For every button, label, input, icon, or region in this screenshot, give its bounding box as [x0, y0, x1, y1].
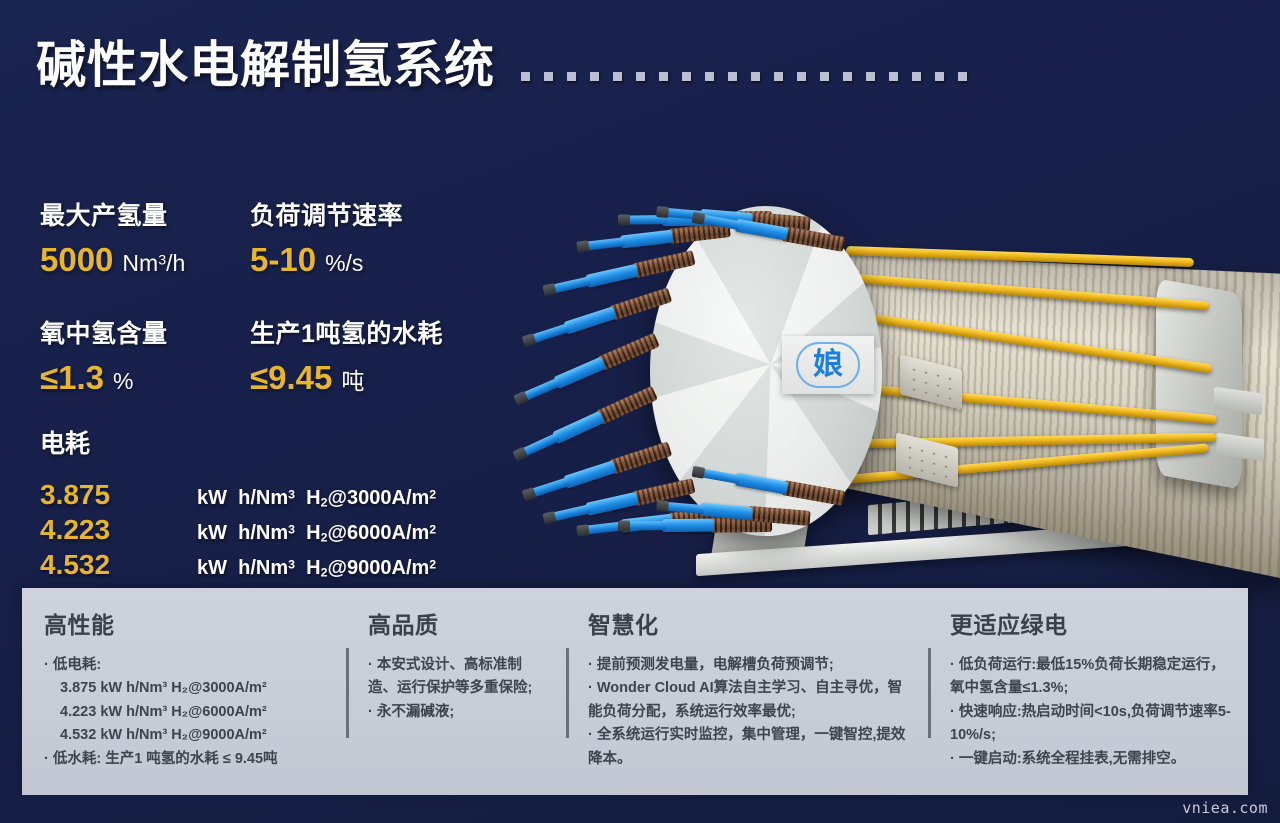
- bolt-tip: [577, 524, 590, 536]
- bolt-nose: [587, 237, 626, 250]
- stat-value: ≤9.45: [250, 360, 332, 396]
- power-value: 4.532: [40, 549, 188, 581]
- bolt-nose: [523, 378, 561, 401]
- stat-unit: %: [113, 368, 133, 395]
- stat-water-per-ton: 生产1吨氢的水耗 ≤9.45 吨: [250, 314, 510, 396]
- stat-h2-in-o2: 氧中氢含量 ≤1.3 %: [40, 314, 250, 396]
- title-dot: [958, 72, 967, 81]
- title-dot: [820, 72, 829, 81]
- title-dot: [613, 72, 622, 81]
- title-dot: [590, 72, 599, 81]
- bolt-nose: [628, 521, 666, 530]
- power-value: 3.875: [40, 479, 188, 511]
- column-title: 高品质: [368, 606, 550, 640]
- stat-value: 5-10: [250, 242, 316, 278]
- power-unit: kW h/Nm3 H2@3000A/m2: [197, 487, 436, 510]
- bolt-shank: [609, 441, 673, 474]
- title-dot: [889, 72, 898, 81]
- title-dot: [866, 72, 875, 81]
- bullet-list: · 低电耗: 3.875 kW h/Nm³ H₂@3000A/m² 4.223 …: [44, 654, 330, 771]
- list-item: · 全系统运行实时监控，集中管理，一键智控,提效降本。: [588, 724, 912, 771]
- power-consumption-block: 电耗 3.875 kW h/Nm3 H2@3000A/m2 4.223 kW h…: [40, 424, 540, 584]
- bullet-list: · 提前预测发电量，电解槽负荷预调节; · Wonder Cloud AI算法自…: [588, 654, 912, 771]
- bolt-hydraulic-body: [585, 264, 639, 288]
- list-item: · 低水耗: 生产1 吨氢的水耗 ≤ 9.45吨: [44, 748, 330, 771]
- slide-canvas: 碱性水电解制氢系统 最大产氢量 5000 Nm3/h 负荷调节速率 5-10 %…: [0, 0, 1280, 823]
- title-dot: [774, 72, 783, 81]
- list-item: 4.532 kW h/Nm³ H₂@9000A/m²: [44, 724, 330, 747]
- feature-column-intelligence: 智慧化 · 提前预测发电量，电解槽负荷预调节; · Wonder Cloud A…: [566, 588, 928, 795]
- list-item: · 本安式设计、高标准制造、运行保护等多重保险;: [368, 654, 550, 701]
- bolt-hydraulic-body: [585, 492, 639, 516]
- feature-column-performance: 高性能 · 低电耗: 3.875 kW h/Nm³ H₂@3000A/m² 4.…: [22, 588, 346, 795]
- bolt-tip: [692, 466, 706, 479]
- stat-unit: Nm3/h: [122, 250, 185, 277]
- column-title: 高性能: [44, 606, 330, 640]
- bolt-tip: [618, 214, 630, 225]
- title-dot: [659, 72, 668, 81]
- stack-end-cap: [1156, 278, 1242, 489]
- bullet-list: · 低负荷运行:最低15%负荷长期稳定运行，氧中氢含量≤1.3%; · 快速响应…: [950, 654, 1232, 771]
- site-watermark: vniea.com: [1182, 799, 1268, 817]
- title-dot: [521, 72, 530, 81]
- list-item: · 快速响应:热启动时间<10s,负荷调节速率5-10%/s;: [950, 701, 1232, 748]
- title-dot: [751, 72, 760, 81]
- manufacturer-logo-plate: 娘: [782, 336, 874, 394]
- stat-label: 氧中氢含量: [40, 314, 250, 350]
- list-item: · 低电耗:: [44, 654, 330, 677]
- bolt-tip: [618, 520, 630, 531]
- list-item: · 提前预测发电量，电解槽负荷预调节;: [588, 654, 912, 677]
- bolt-hydraulic-body: [620, 230, 673, 249]
- bolt-hydraulic-body: [662, 519, 714, 533]
- bolt-nose: [702, 215, 741, 231]
- power-title: 电耗: [40, 424, 540, 460]
- bolt-nose: [702, 468, 741, 484]
- bolt-hydraulic-body: [700, 503, 753, 520]
- bolt-nose: [532, 323, 571, 343]
- stat-unit: 吨: [341, 362, 364, 396]
- list-item: 3.875 kW h/Nm³ H₂@3000A/m²: [44, 677, 330, 700]
- bolt-nose: [553, 504, 592, 521]
- column-title: 更适应绿电: [950, 606, 1232, 640]
- list-item: 4.223 kW h/Nm³ H₂@6000A/m²: [44, 701, 330, 724]
- title-dot: [705, 72, 714, 81]
- list-item: · 一键启动:系统全程挂表,无需排空。: [950, 748, 1232, 771]
- column-title: 智慧化: [588, 606, 912, 640]
- title-dot: [567, 72, 576, 81]
- power-row: 4.223 kW h/Nm3 H2@6000A/m2: [40, 514, 540, 546]
- stat-max-hydrogen: 最大产氢量 5000 Nm3/h: [40, 196, 250, 278]
- list-item: · 低负荷运行:最低15%负荷长期稳定运行，氧中氢含量≤1.3%;: [950, 654, 1232, 701]
- title-dot: [843, 72, 852, 81]
- page-title: 碱性水电解制氢系统: [36, 40, 495, 90]
- stat-unit: %/s: [325, 250, 363, 277]
- bolt-tip: [692, 212, 706, 225]
- bolt-tip: [543, 283, 557, 296]
- title-dot-decoration: [521, 50, 967, 81]
- list-item: · Wonder Cloud AI算法自主学习、自主寻优，智能负荷分配，系统运行…: [588, 677, 912, 724]
- bolt-hydraulic-body: [552, 411, 605, 444]
- bolt-shank: [595, 386, 658, 425]
- stat-label: 最大产氢量: [40, 196, 250, 232]
- bolt-hydraulic-body: [564, 460, 617, 488]
- feature-panel: 高性能 · 低电耗: 3.875 kW h/Nm³ H₂@3000A/m² 4.…: [22, 588, 1248, 795]
- bolt-nose: [553, 276, 592, 293]
- bolt-nose: [666, 502, 705, 514]
- power-unit: kW h/Nm3 H2@9000A/m2: [197, 557, 436, 580]
- bolt-tip: [577, 240, 590, 252]
- stat-value: ≤1.3: [40, 360, 104, 396]
- power-value: 4.223: [40, 514, 188, 546]
- stat-label: 生产1吨氢的水耗: [250, 314, 510, 350]
- title-dot: [682, 72, 691, 81]
- bolt-hydraulic-body: [564, 307, 617, 335]
- title-dot: [935, 72, 944, 81]
- feature-column-green-power: 更适应绿电 · 低负荷运行:最低15%负荷长期稳定运行，氧中氢含量≤1.3%; …: [928, 588, 1248, 795]
- bullet-list: · 本安式设计、高标准制造、运行保护等多重保险; · 永不漏碱液;: [368, 654, 550, 724]
- bolt-tip: [656, 206, 669, 218]
- power-row: 3.875 kW h/Nm3 H2@3000A/m2: [40, 479, 540, 511]
- stat-label: 负荷调节速率: [250, 196, 510, 232]
- stat-load-rate: 负荷调节速率 5-10 %/s: [250, 196, 510, 278]
- title-dot: [728, 72, 737, 81]
- feature-column-quality: 高品质 · 本安式设计、高标准制造、运行保护等多重保险; · 永不漏碱液;: [346, 588, 566, 795]
- list-item: · 永不漏碱液;: [368, 701, 550, 724]
- logo-ring-icon: [796, 342, 860, 388]
- title-dot: [797, 72, 806, 81]
- power-row: 4.532 kW h/Nm3 H2@9000A/m2: [40, 549, 540, 581]
- electrolyzer-photo: 娘: [600, 140, 1280, 610]
- key-stats: 最大产氢量 5000 Nm3/h 负荷调节速率 5-10 %/s 氧中氢含量 ≤…: [40, 196, 510, 397]
- stat-value: 5000: [40, 242, 113, 278]
- title-dot: [544, 72, 553, 81]
- title-dot: [636, 72, 645, 81]
- title-row: 碱性水电解制氢系统: [36, 40, 967, 90]
- power-unit: kW h/Nm3 H2@6000A/m2: [197, 522, 436, 545]
- title-dot: [912, 72, 921, 81]
- bolt-tip: [656, 500, 669, 512]
